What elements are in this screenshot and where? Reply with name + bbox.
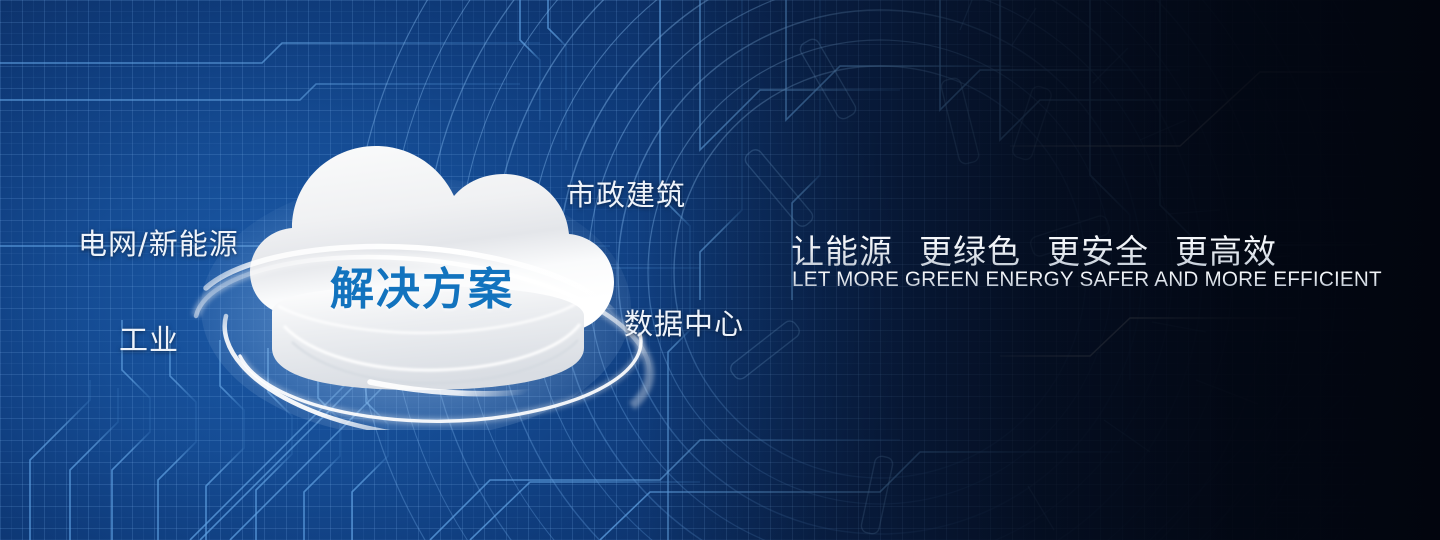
tagline-part-4: 更高效 [1175,232,1277,271]
solution-banner: 解决方案 电网/新能源 工业 市政建筑 数据中心 让能源更绿色更安全更高效 LE… [0,0,1440,540]
tagline-part-2: 更绿色 [919,232,1021,271]
banner-main-title: 解决方案 [330,253,514,317]
tagline-english: LET MORE GREEN ENERGY SAFER AND MORE EFF… [792,268,1382,292]
label-industry: 工业 [119,317,179,359]
label-data-center: 数据中心 [624,301,744,343]
tagline-part-1: 让能源 [791,232,893,271]
label-grid-new-energy: 电网/新能源 [78,221,239,263]
tagline-part-3: 更安全 [1047,232,1149,271]
tagline-chinese: 让能源更绿色更安全更高效 [791,225,1277,273]
label-civic-building: 市政建筑 [566,172,686,214]
